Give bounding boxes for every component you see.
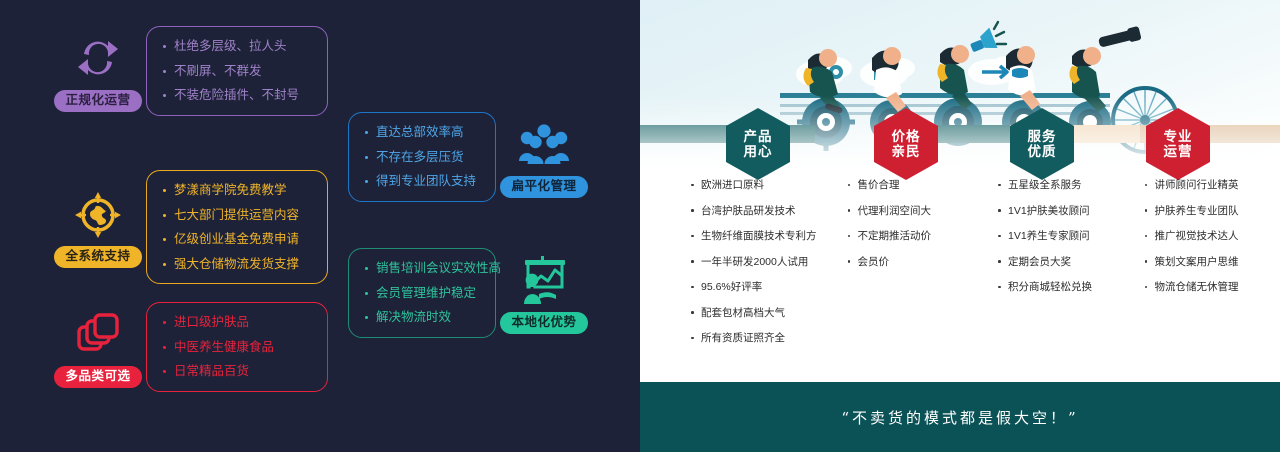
list-item: 欧洲进口原料 [690, 180, 827, 191]
icon-column: 扁平化管理 [496, 116, 592, 198]
feature-column-price: 售价合理 代理利润空间大 不定期推活动价 会员价 [827, 180, 984, 375]
list-item: 七大部门提供运营内容 [163, 209, 309, 222]
list-item: 配套包材高档大气 [690, 308, 827, 319]
group-label-flat-management: 扁平化管理 [500, 176, 587, 198]
group-label-multi-category: 多品类可选 [54, 366, 141, 388]
badge-line2: 用心 [744, 144, 773, 159]
feature-card-full-system-support: 梦漾商学院免费教学 七大部门提供运营内容 亿级创业基金免费申请 强大仓储物流发货… [146, 170, 328, 284]
list-item: 会员管理维护稳定 [365, 287, 477, 300]
group-label-standard-operation: 正规化运营 [54, 90, 141, 112]
list-item: 直达总部效率高 [365, 126, 477, 139]
feature-columns: 欧洲进口原料 台湾护肤品研发技术 生物纤维面膜技术专利方 一年半研发2000人试… [640, 180, 1280, 375]
list-item: 不存在多层压货 [365, 151, 477, 164]
list-item: 销售培训会议实效性高 [365, 262, 477, 275]
feature-card-localization-advantage: 销售培训会议实效性高 会员管理维护稳定 解决物流时效 [348, 248, 496, 338]
list-item: 一年半研发2000人试用 [690, 257, 827, 268]
list-item: 95.6%好评率 [690, 282, 827, 293]
list-item: 台湾护肤品研发技术 [690, 206, 827, 217]
list-item: 定期会员大奖 [997, 257, 1134, 268]
list-item: 1V1护肤美妆顾问 [997, 206, 1134, 217]
footer-slogan: “不卖货的模式都是假大空！” [841, 407, 1078, 428]
badge-line1: 专业 [1164, 129, 1193, 144]
list-item: 日常精品百货 [163, 365, 309, 378]
badge-line1: 服务 [1028, 129, 1057, 144]
left-dark-panel: 正规化运营 杜绝多层级、拉人头 不刷屏、不群发 不装危险插件、不封号 [0, 0, 640, 452]
badge-line1: 价格 [892, 129, 921, 144]
list-item: 物流仓储无休管理 [1144, 282, 1280, 293]
icon-column: 正规化运营 [50, 30, 146, 112]
icon-column: 多品类可选 [50, 306, 146, 388]
list-item: 解决物流时效 [365, 311, 477, 324]
list-item: 会员价 [847, 257, 984, 268]
badge-line2: 优质 [1028, 144, 1057, 159]
badge-line1: 产品 [744, 129, 773, 144]
icon-column: 全系统支持 [50, 186, 146, 268]
list-item: 不刷屏、不群发 [163, 65, 309, 78]
presentation-chart-icon [517, 252, 571, 308]
list-item: 不定期推活动价 [847, 231, 984, 242]
list-item: 梦漾商学院免费教学 [163, 184, 309, 197]
feature-card-standard-operation: 杜绝多层级、拉人头 不刷屏、不群发 不装危险插件、不封号 [146, 26, 328, 116]
icon-column: 本地化优势 [496, 252, 592, 334]
list-item: 五星级全系服务 [997, 180, 1134, 191]
list-item: 亿级创业基金免费申请 [163, 233, 309, 246]
group-label-full-system-support: 全系统支持 [54, 246, 141, 268]
list-item: 中医养生健康食品 [163, 341, 309, 354]
badge-line2: 亲民 [892, 144, 921, 159]
feature-card-flat-management: 直达总部效率高 不存在多层压货 得到专业团队支持 [348, 112, 496, 202]
feature-group-standard-operation: 正规化运营 杜绝多层级、拉人头 不刷屏、不群发 不装危险插件、不封号 [50, 26, 328, 116]
stacked-squares-icon [75, 306, 121, 362]
people-group-icon [516, 116, 572, 172]
list-item: 不装危险插件、不封号 [163, 89, 309, 102]
list-item: 进口级护肤品 [163, 316, 309, 329]
list-item: 策划文案用户思维 [1144, 257, 1280, 268]
list-item: 代理利润空间大 [847, 206, 984, 217]
group-label-localization-advantage: 本地化优势 [500, 312, 587, 334]
list-item: 售价合理 [847, 180, 984, 191]
list-item: 积分商城轻松兑换 [997, 282, 1134, 293]
poster-root: 正规化运营 杜绝多层级、拉人头 不刷屏、不群发 不装危险插件、不封号 [0, 0, 1280, 452]
sync-arrows-icon [74, 30, 122, 86]
feature-column-operation: 讲师顾问行业精英 护肤养生专业团队 推广视觉技术达人 策划文案用户思维 物流仓储… [1134, 180, 1280, 375]
right-light-panel: 产品 用心 价格 亲民 服务 优质 专业 运营 欧洲进口原料 台湾护肤品研发技术… [640, 0, 1280, 452]
list-item: 讲师顾问行业精英 [1144, 180, 1280, 191]
feature-group-flat-management: 直达总部效率高 不存在多层压货 得到专业团队支持 [348, 112, 592, 202]
list-item: 杜绝多层级、拉人头 [163, 40, 309, 53]
feature-card-multi-category: 进口级护肤品 中医养生健康食品 日常精品百货 [146, 302, 328, 392]
list-item: 推广视觉技术达人 [1144, 231, 1280, 242]
feature-group-multi-category: 多品类可选 进口级护肤品 中医养生健康食品 日常精品百货 [50, 302, 328, 392]
badge-line2: 运营 [1164, 144, 1193, 159]
list-item: 强大仓储物流发货支撑 [163, 258, 309, 271]
list-item: 1V1养生专家顾问 [997, 231, 1134, 242]
feature-group-localization-advantage: 销售培训会议实效性高 会员管理维护稳定 解决物流时效 [348, 248, 592, 338]
list-item: 生物纤维面膜技术专利方 [690, 231, 827, 242]
feature-column-service: 五星级全系服务 1V1护肤美妆顾问 1V1养生专家顾问 定期会员大奖 积分商城轻… [983, 180, 1134, 375]
feature-group-full-system-support: 全系统支持 梦漾商学院免费教学 七大部门提供运营内容 亿级创业基金免费申请 强大… [50, 170, 328, 284]
list-item: 所有资质证照齐全 [690, 333, 827, 344]
list-item: 得到专业团队支持 [365, 175, 477, 188]
footer-slogan-band: “不卖货的模式都是假大空！” [640, 382, 1280, 452]
feature-column-product: 欧洲进口原料 台湾护肤品研发技术 生物纤维面膜技术专利方 一年半研发2000人试… [640, 180, 827, 375]
list-item: 护肤养生专业团队 [1144, 206, 1280, 217]
globe-compass-icon [72, 186, 124, 242]
